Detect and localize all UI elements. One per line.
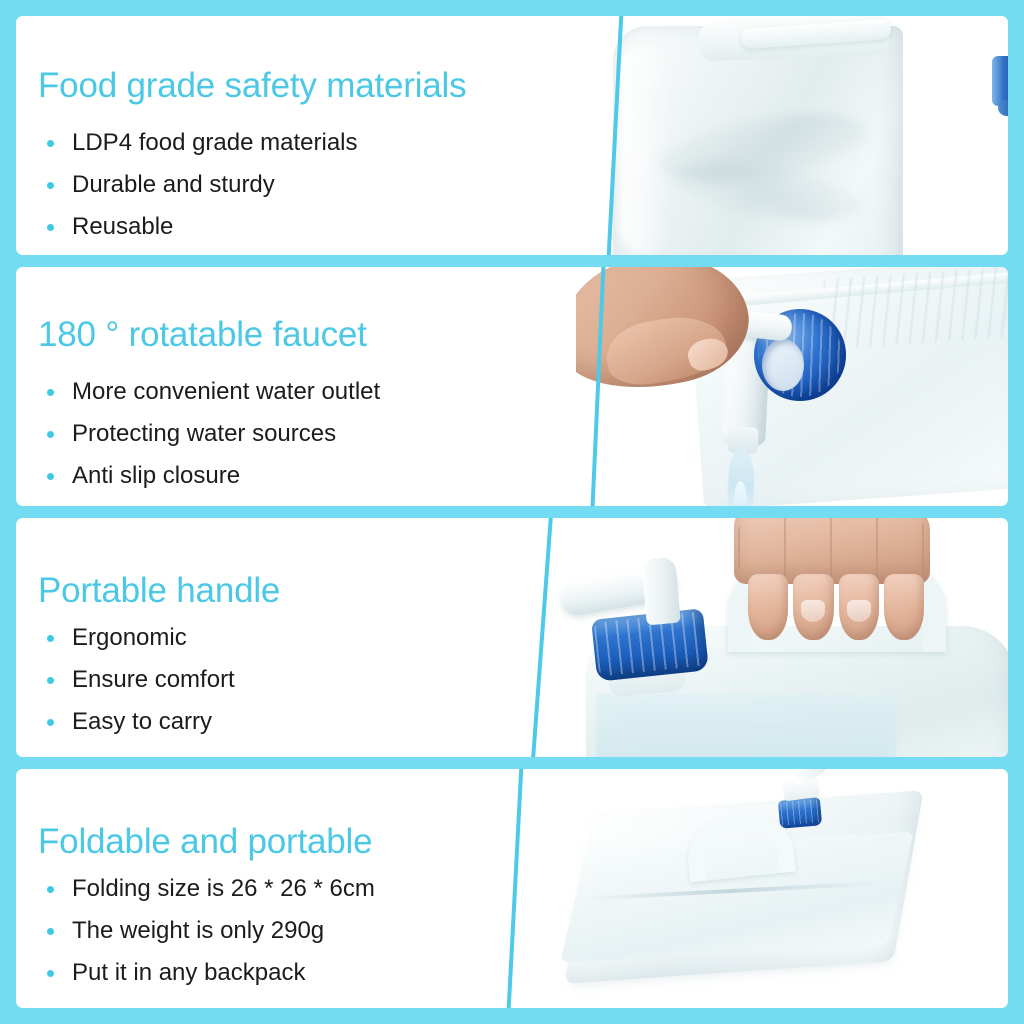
bullet-text: Durable and sturdy	[72, 171, 275, 198]
product-photo-handle	[516, 518, 1008, 757]
bullet-text: LDP4 food grade materials	[72, 129, 358, 156]
bullet-dot-icon	[47, 224, 54, 231]
feature-panel-portable-handle: Portable handle Ergonomic Ensure comfort…	[16, 518, 1008, 757]
bullet-text: Folding size is 26 * 26 * 6cm	[72, 875, 375, 902]
blue-cap-ribs	[780, 799, 820, 825]
bullet-dot-icon	[47, 389, 54, 396]
bullet-dot-icon	[47, 182, 54, 189]
panel-text-column: Portable handle Ergonomic Ensure comfort…	[16, 518, 516, 757]
blue-cap-opening	[762, 339, 804, 391]
finger	[793, 574, 833, 640]
container-highlight	[619, 44, 673, 254]
bullet-text: Ergonomic	[72, 624, 187, 651]
finger	[839, 574, 879, 640]
bullet-dot-icon	[47, 677, 54, 684]
fingers	[748, 574, 924, 640]
bullet-dot-icon	[47, 473, 54, 480]
list-item: Protecting water sources	[38, 422, 576, 446]
bullet-text: Anti slip closure	[72, 462, 240, 489]
list-item: Folding size is 26 * 26 * 6cm	[38, 877, 491, 901]
product-photo-faucet	[576, 267, 1008, 506]
bullet-text: Ensure comfort	[72, 666, 235, 693]
bullet-text: Reusable	[72, 213, 173, 240]
feature-bullet-list: More convenient water outlet Protecting …	[38, 380, 576, 488]
blue-cap-edge	[998, 100, 1008, 116]
list-item: Ensure comfort	[38, 668, 516, 692]
list-item: Durable and sturdy	[38, 173, 591, 197]
list-item: More convenient water outlet	[38, 380, 576, 404]
bullet-dot-icon	[47, 970, 54, 977]
container-body	[613, 26, 903, 255]
list-item: Easy to carry	[38, 710, 516, 734]
water-inside-container	[596, 694, 896, 757]
feature-bullet-list: Folding size is 26 * 26 * 6cm The weight…	[38, 877, 491, 985]
container-texture	[824, 267, 1008, 350]
bullet-text: More convenient water outlet	[72, 378, 380, 405]
bullet-dot-icon	[47, 886, 54, 893]
list-item: Reusable	[38, 215, 591, 239]
bullet-text: The weight is only 290g	[72, 917, 324, 944]
feature-panel-foldable-and-portable: Foldable and portable Folding size is 26…	[16, 769, 1008, 1008]
bullet-dot-icon	[47, 928, 54, 935]
bullet-dot-icon	[47, 635, 54, 642]
product-photo-folded	[491, 769, 1008, 1008]
bullet-text: Put it in any backpack	[72, 959, 305, 986]
list-item: Ergonomic	[38, 626, 516, 650]
bullet-dot-icon	[47, 719, 54, 726]
panel-text-column: Food grade safety materials LDP4 food gr…	[16, 16, 591, 255]
finger	[748, 574, 788, 640]
bullet-text: Protecting water sources	[72, 420, 336, 447]
feature-bullet-list: LDP4 food grade materials Durable and st…	[38, 131, 591, 239]
list-item: LDP4 food grade materials	[38, 131, 591, 155]
bullet-dot-icon	[47, 431, 54, 438]
knuckles	[738, 518, 926, 578]
feature-bullet-list: Ergonomic Ensure comfort Easy to carry	[38, 626, 516, 734]
bullet-text: Easy to carry	[72, 708, 212, 735]
list-item: Put it in any backpack	[38, 961, 491, 985]
panel-text-column: Foldable and portable Folding size is 26…	[16, 769, 491, 1008]
product-photo-container-closeup	[591, 16, 1008, 255]
faucet-neck	[641, 557, 681, 626]
panel-title: Foldable and portable	[38, 823, 491, 862]
blue-cap-edge	[992, 56, 1008, 106]
panel-text-column: 180 ° rotatable faucet More convenient w…	[16, 267, 576, 506]
list-item: The weight is only 290g	[38, 919, 491, 943]
panel-title: Portable handle	[38, 572, 516, 611]
product-feature-infographic: Food grade safety materials LDP4 food gr…	[0, 0, 1024, 1024]
finger	[884, 574, 924, 640]
feature-panel-food-grade-safety-materials: Food grade safety materials LDP4 food gr…	[16, 16, 1008, 255]
list-item: Anti slip closure	[38, 464, 576, 488]
panel-title: Food grade safety materials	[38, 67, 591, 106]
bullet-dot-icon	[47, 140, 54, 147]
feature-panel-rotatable-faucet: 180 ° rotatable faucet More convenient w…	[16, 267, 1008, 506]
panel-title: 180 ° rotatable faucet	[38, 316, 576, 355]
